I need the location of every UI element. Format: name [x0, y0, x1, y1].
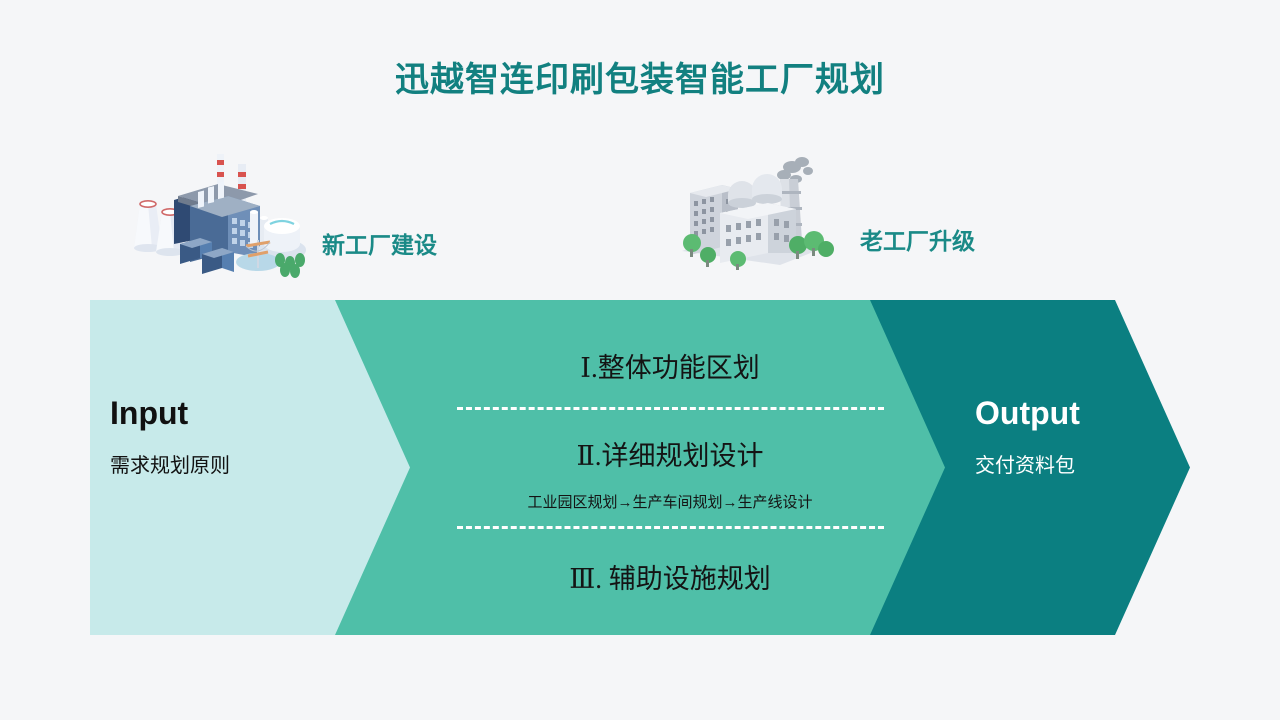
- page-title: 迅越智连印刷包装智能工厂规划: [0, 52, 1280, 101]
- process-flow-band: Input 需求规划原则 Ⅰ.整体功能区划 Ⅱ.详细规划设计 工业园区规划→生产…: [90, 300, 1190, 635]
- scenario-label-new-factory: 新工厂建设: [322, 226, 437, 260]
- process-stage-content: Ⅰ.整体功能区划 Ⅱ.详细规划设计 工业园区规划→生产车间规划→生产线设计 Ⅲ.…: [435, 346, 905, 596]
- process-divider-1: [457, 407, 884, 410]
- scenario-label-old-factory: 老工厂升级: [860, 222, 975, 256]
- new-factory-illustration: [118, 140, 308, 280]
- old-factory-illustration: [676, 155, 846, 270]
- input-heading: Input: [110, 396, 340, 431]
- process-subnote: 工业园区规划→生产车间规划→生产线设计: [435, 491, 905, 512]
- input-subtext: 需求规划原则: [110, 449, 340, 478]
- output-heading: Output: [975, 396, 1205, 431]
- process-divider-2: [457, 526, 884, 529]
- scenario-new-factory: 新工厂建设: [118, 140, 437, 280]
- input-stage-content: Input 需求规划原则: [110, 396, 340, 478]
- process-item-2: Ⅱ.详细规划设计: [435, 434, 905, 473]
- slide-canvas: 迅越智连印刷包装智能工厂规划: [0, 0, 1280, 720]
- output-stage-content: Output 交付资料包: [975, 396, 1205, 478]
- scenario-old-factory: 老工厂升级: [676, 155, 975, 270]
- process-item-3: Ⅲ. 辅助设施规划: [435, 557, 905, 596]
- process-item-1: Ⅰ.整体功能区划: [435, 346, 905, 385]
- output-subtext: 交付资料包: [975, 449, 1205, 478]
